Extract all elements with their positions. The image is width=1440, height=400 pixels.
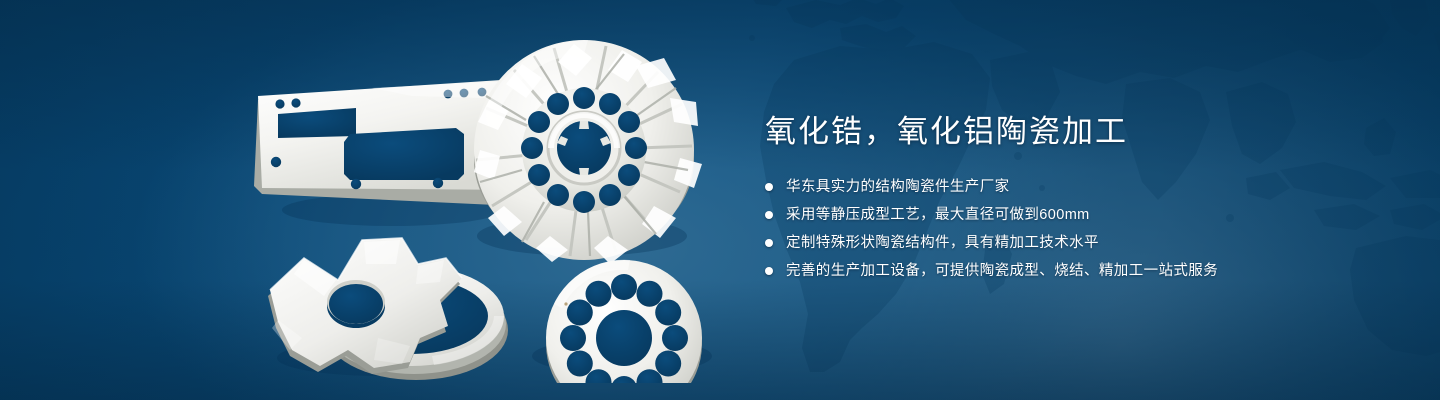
bullet-dot-icon <box>765 267 773 275</box>
feature-text: 定制特殊形状陶瓷结构件，具有精加工技术水平 <box>786 233 1099 253</box>
feature-list: 华东具实力的结构陶瓷件生产厂家 采用等静压成型工艺，最大直径可做到600mm 定… <box>765 174 1385 283</box>
bullet-dot-icon <box>765 183 773 191</box>
list-item: 完善的生产加工设备，可提供陶瓷成型、烧结、精加工一站式服务 <box>765 258 1385 283</box>
hero-banner: 氧化锆，氧化铝陶瓷加工 华东具实力的结构陶瓷件生产厂家 采用等静压成型工艺，最大… <box>0 0 1440 400</box>
bullet-dot-icon <box>765 211 773 219</box>
bullet-dot-icon <box>765 239 773 247</box>
list-item: 采用等静压成型工艺，最大直径可做到600mm <box>765 202 1385 227</box>
feature-text: 采用等静压成型工艺，最大直径可做到600mm <box>786 205 1090 225</box>
list-item: 定制特殊形状陶瓷结构件，具有精加工技术水平 <box>765 230 1385 255</box>
feature-text: 华东具实力的结构陶瓷件生产厂家 <box>786 177 1010 197</box>
banner-copy: 氧化锆，氧化铝陶瓷加工 华东具实力的结构陶瓷件生产厂家 采用等静压成型工艺，最大… <box>765 112 1385 286</box>
list-item: 华东具实力的结构陶瓷件生产厂家 <box>765 174 1385 199</box>
page-title: 氧化锆，氧化铝陶瓷加工 <box>765 112 1385 152</box>
feature-text: 完善的生产加工设备，可提供陶瓷成型、烧结、精加工一站式服务 <box>786 261 1218 281</box>
ceramic-parts-photo <box>232 38 712 383</box>
